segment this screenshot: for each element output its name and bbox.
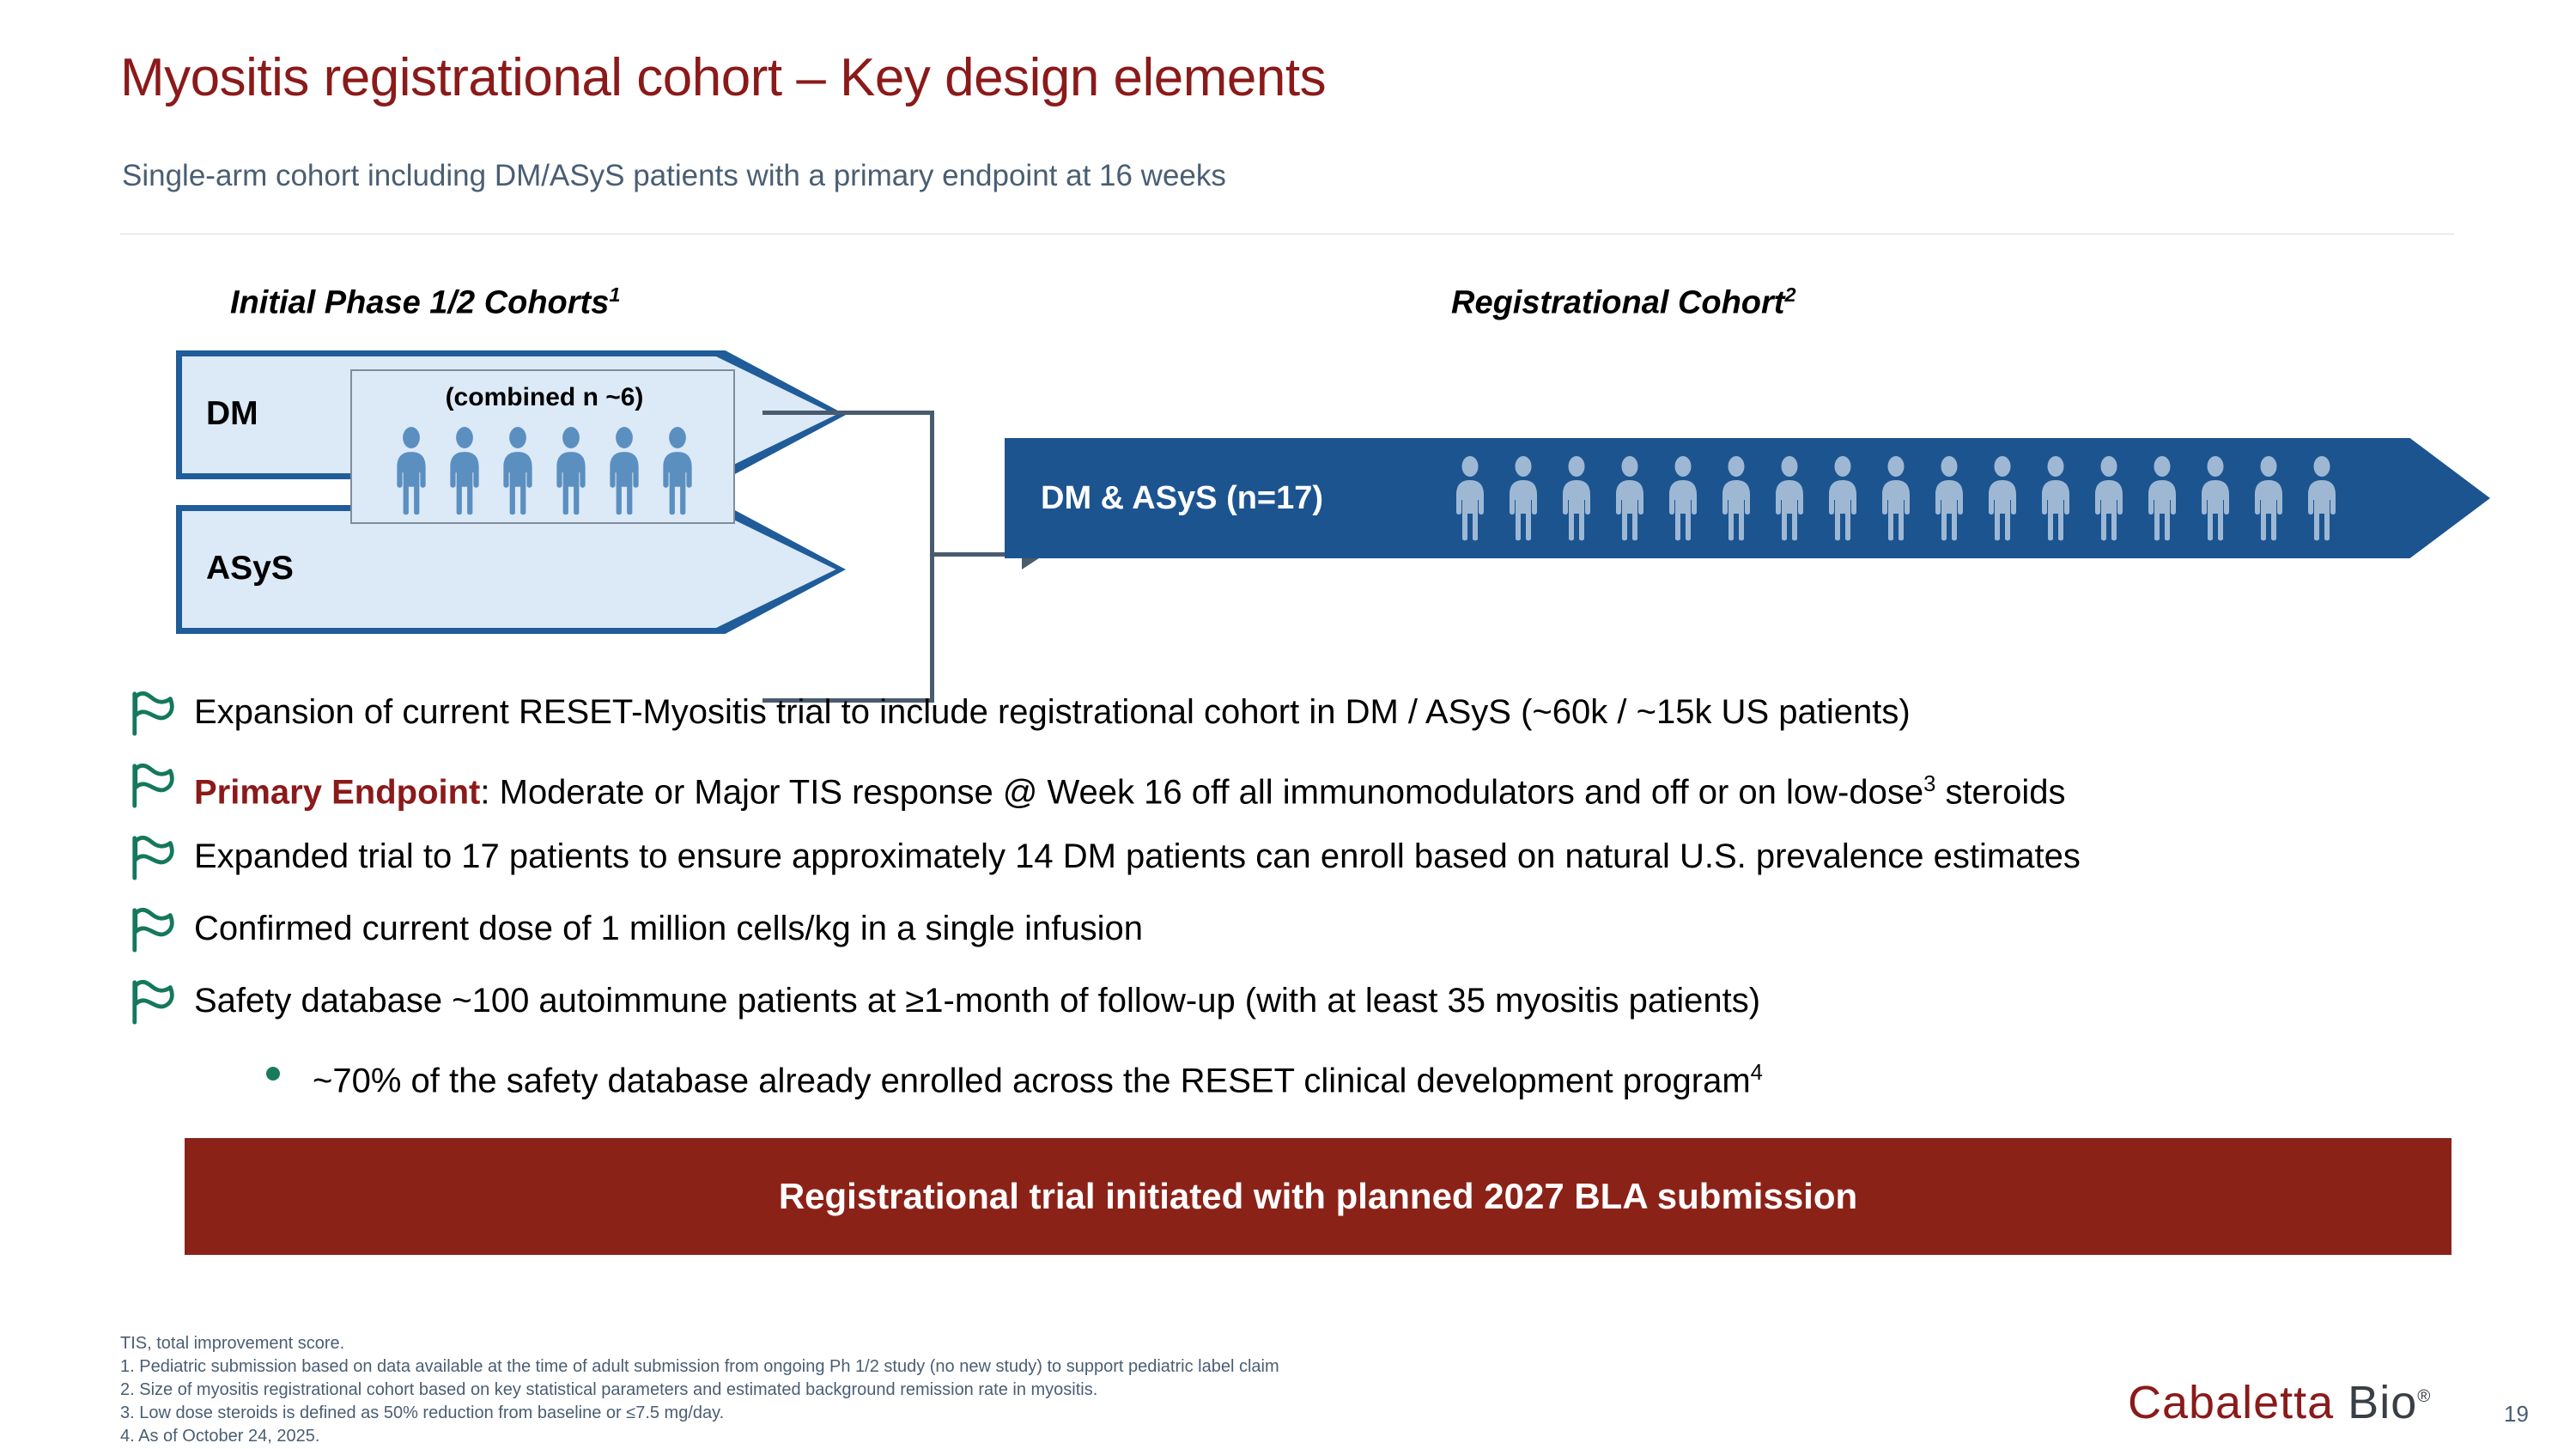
person-icon xyxy=(2143,455,2181,541)
list-item: Safety database ~100 autoimmune patients… xyxy=(0,976,2576,1046)
flag-icon-svg xyxy=(127,905,180,955)
person-icon xyxy=(1664,455,1702,541)
person-icon xyxy=(1717,455,1755,541)
person-icon xyxy=(551,426,591,515)
cohort-label-asys: ASyS xyxy=(206,550,294,588)
diagram-left-heading-superscript: 1 xyxy=(609,283,620,306)
person-icon xyxy=(605,426,644,515)
list-item: Expanded trial to 17 patients to ensure … xyxy=(0,831,2576,902)
primary-endpoint-lead: Primary Endpoint xyxy=(194,773,480,811)
list-item-superscript: 3 xyxy=(1923,772,1935,796)
person-icon xyxy=(1984,455,2021,541)
person-icon xyxy=(1824,455,1862,541)
person-icon xyxy=(658,426,697,515)
registered-trademark-icon: ® xyxy=(2417,1386,2431,1406)
registrational-cohort-label: DM & ASyS (n=17) xyxy=(1041,438,1323,558)
person-icon xyxy=(1451,455,1489,541)
person-icon xyxy=(498,426,538,515)
registrational-cohort-arrow: DM & ASyS (n=17) xyxy=(1005,438,2490,558)
footnote-4: 4. As of October 24, 2025. xyxy=(120,1425,2009,1448)
diagram-left-heading-text: Initial Phase 1/2 Cohorts xyxy=(230,285,609,321)
list-item-text: Safety database ~100 autoimmune patients… xyxy=(194,976,1760,1026)
flag-icon xyxy=(127,833,180,883)
diagram-right-heading: Registrational Cohort2 xyxy=(1451,283,1796,322)
list-item-text: Primary Endpoint: Moderate or Major TIS … xyxy=(194,759,2066,817)
flag-icon-svg xyxy=(127,977,180,1027)
flag-icon xyxy=(127,977,180,1027)
flag-icon xyxy=(127,761,180,811)
person-icon xyxy=(2196,455,2234,541)
person-icon xyxy=(445,426,484,515)
sub-list-item-text: ~70% of the safety database already enro… xyxy=(313,1048,1763,1105)
list-item-tail: steroids xyxy=(1935,773,2065,811)
logo-brand: Cabaletta xyxy=(2128,1377,2334,1428)
combined-cohort-people xyxy=(352,421,737,515)
key-points-list: Expansion of current RESET-Myositis tria… xyxy=(0,687,2576,1118)
page-subtitle: Single-arm cohort including DM/ASyS pati… xyxy=(122,159,2440,193)
footnotes: TIS, total improvement score. 1. Pediatr… xyxy=(120,1332,2009,1448)
list-item: Expansion of current RESET-Myositis tria… xyxy=(0,687,2576,758)
diagram-right-heading-superscript: 2 xyxy=(1784,283,1795,306)
list-item: Confirmed current dose of 1 million cell… xyxy=(0,904,2576,974)
cohort-label-dm: DM xyxy=(206,395,258,433)
footnote-1: 1. Pediatric submission based on data av… xyxy=(120,1355,2009,1379)
person-icon xyxy=(1504,455,1542,541)
status-banner-text: Registrational trial initiated with plan… xyxy=(779,1176,1857,1217)
flag-icon xyxy=(127,905,180,955)
footnote-2: 2. Size of myositis registrational cohor… xyxy=(120,1379,2009,1402)
person-icon xyxy=(1877,455,1915,541)
person-icon xyxy=(2303,455,2341,541)
list-item-body: : Moderate or Major TIS response @ Week … xyxy=(480,773,1923,811)
bullet-dot-icon xyxy=(266,1067,280,1081)
header-divider xyxy=(120,234,2454,234)
sub-list-item-superscript: 4 xyxy=(1751,1061,1763,1085)
person-icon xyxy=(1930,455,1968,541)
list-item-text: Expanded trial to 17 patients to ensure … xyxy=(194,831,2081,881)
footnote-3: 3. Low dose steroids is defined as 50% r… xyxy=(120,1402,2009,1425)
status-banner: Registrational trial initiated with plan… xyxy=(185,1138,2451,1255)
page-number: 19 xyxy=(2504,1401,2529,1428)
combined-cohort-label: (combined n ~6) xyxy=(352,383,737,412)
person-icon xyxy=(2250,455,2287,541)
list-item-text: Confirmed current dose of 1 million cell… xyxy=(194,904,1143,953)
list-item-text: Expansion of current RESET-Myositis tria… xyxy=(194,687,1911,737)
diagram-left-heading: Initial Phase 1/2 Cohorts1 xyxy=(230,283,620,322)
footnote-abbreviation: TIS, total improvement score. xyxy=(120,1332,2009,1355)
sub-list-item-body: ~70% of the safety database already enro… xyxy=(313,1062,1751,1099)
sub-list-item: ~70% of the safety database already enro… xyxy=(0,1048,2576,1118)
flag-icon-svg xyxy=(127,761,180,811)
flag-icon xyxy=(127,689,180,739)
connector-bracket xyxy=(762,411,934,703)
cohort-diagram: Initial Phase 1/2 Cohorts1 Registrationa… xyxy=(0,283,2576,644)
person-icon xyxy=(1558,455,1595,541)
list-item: Primary Endpoint: Moderate or Major TIS … xyxy=(0,759,2576,830)
person-icon xyxy=(1611,455,1649,541)
person-icon xyxy=(2037,455,2075,541)
combined-cohort-box: (combined n ~6) xyxy=(350,369,735,524)
person-icon xyxy=(1771,455,1808,541)
person-icon xyxy=(392,426,431,515)
flag-icon-svg xyxy=(127,833,180,883)
logo-product: Bio xyxy=(2334,1377,2417,1428)
company-logo: Cabaletta Bio® xyxy=(2128,1376,2431,1429)
flag-icon-svg xyxy=(127,689,180,739)
registrational-cohort-people xyxy=(1451,438,2482,558)
page-title: Myositis registrational cohort – Key des… xyxy=(120,47,2439,108)
diagram-right-heading-text: Registrational Cohort xyxy=(1451,285,1784,321)
person-icon xyxy=(2090,455,2128,541)
